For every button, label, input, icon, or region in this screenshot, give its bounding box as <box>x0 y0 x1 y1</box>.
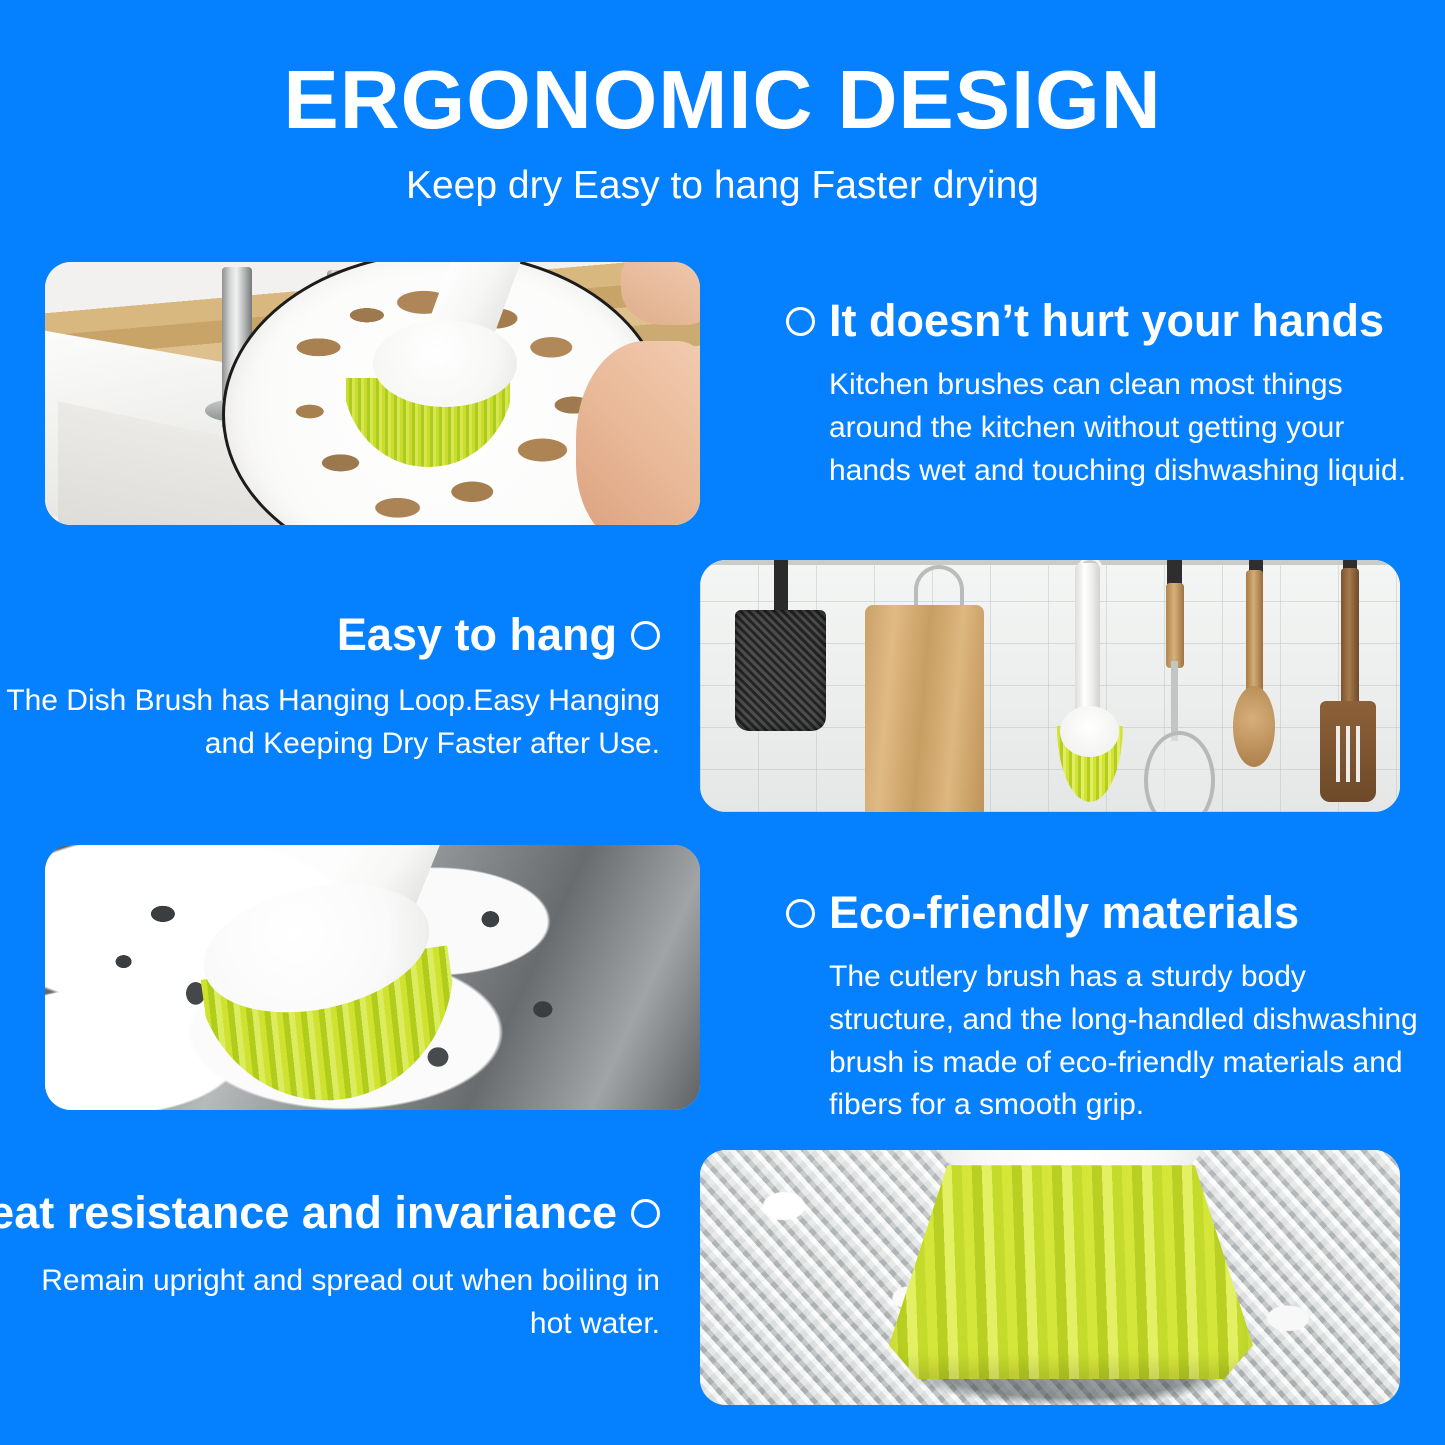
feature-body: Kitchen brushes can clean most things ar… <box>829 364 1426 492</box>
wooden-cutting-board <box>865 605 984 812</box>
brush-bristles <box>889 1165 1253 1379</box>
slotted-turner-handle <box>1341 568 1359 714</box>
feature-heading: Easy to hang <box>337 610 617 660</box>
feature-heading: Heat resistance and invariance <box>0 1188 617 1238</box>
wire-basket <box>735 610 826 731</box>
feature-block-easy-to-hang: Easy to hang The Dish Brush has Hanging … <box>0 610 660 766</box>
feature-photo-doesnt-hurt-hands <box>45 262 700 525</box>
feature-photo-easy-to-hang <box>700 560 1400 812</box>
cutting-board-ring <box>914 565 964 609</box>
hanging-rail <box>700 560 1400 565</box>
feature-heading-row: It doesn’t hurt your hands <box>786 296 1426 346</box>
feature-heading: It doesn’t hurt your hands <box>829 296 1384 346</box>
wooden-spoon-bowl <box>1233 686 1275 767</box>
feature-block-heat-resistance: Heat resistance and invariance Remain up… <box>0 1188 660 1346</box>
circle-outline-icon <box>631 621 660 650</box>
page-title: ERGONOMIC DESIGN <box>0 58 1445 141</box>
wooden-spoon-handle <box>1246 570 1263 701</box>
basket-stem <box>774 560 788 615</box>
feature-body: The cutlery brush has a sturdy body stru… <box>829 956 1426 1126</box>
feature-block-doesnt-hurt-hands: It doesn’t hurt your hands Kitchen brush… <box>786 296 1426 492</box>
feature-heading: Eco-friendly materials <box>829 888 1299 938</box>
feature-photo-eco-friendly-materials <box>45 845 700 1110</box>
brush-handle <box>1075 563 1100 729</box>
feature-body: The Dish Brush has Hanging Loop.Easy Han… <box>0 680 660 765</box>
feature-heading-row: Eco-friendly materials <box>786 888 1426 938</box>
masher-handle <box>1166 583 1184 669</box>
feature-heading-row: Heat resistance and invariance <box>0 1188 660 1238</box>
slotted-turner-slots <box>1330 726 1365 781</box>
brush-head <box>373 320 517 407</box>
circle-outline-icon <box>786 307 815 336</box>
brush-head <box>1060 706 1119 756</box>
circle-outline-icon <box>631 1199 660 1228</box>
circle-outline-icon <box>786 899 815 928</box>
feature-heading-row: Easy to hang <box>0 610 660 660</box>
page-subtitle: Keep dry Easy to hang Faster drying <box>0 163 1445 210</box>
feature-block-eco-friendly-materials: Eco-friendly materials The cutlery brush… <box>786 888 1426 1127</box>
feature-photo-heat-resistance <box>700 1150 1400 1405</box>
masher-stem <box>1171 661 1178 742</box>
infographic-page: ERGONOMIC DESIGN Keep dry Easy to hang F… <box>0 0 1445 1445</box>
feature-body: Remain upright and spread out when boili… <box>0 1260 660 1345</box>
